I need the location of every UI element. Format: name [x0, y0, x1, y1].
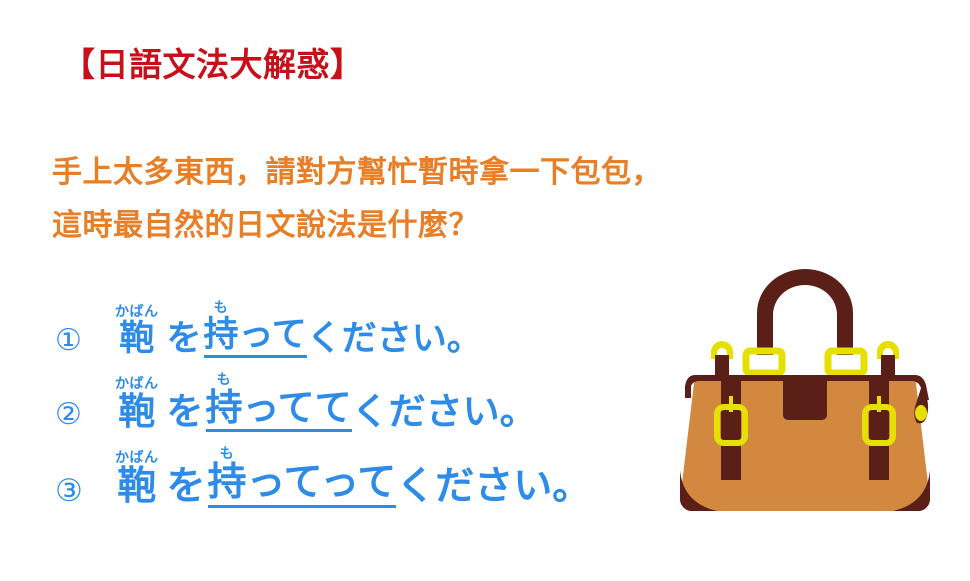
bag-handle-loop-left-icon	[746, 351, 782, 373]
furigana-verb-1: も	[214, 300, 229, 314]
option-item-3[interactable]: ③ かばん 鞄 を も 持 ってって ください。	[55, 446, 655, 508]
question-line-2: 這時最自然的日文說法是什麼？	[52, 199, 712, 252]
particle-wo-1: を	[167, 321, 202, 358]
option-number-2: ②	[55, 400, 115, 432]
bag-buckle-prong-left-icon	[729, 396, 733, 412]
bag-strap-right	[869, 375, 889, 480]
kanji-bag-2: 鞄	[118, 393, 155, 432]
option-item-2[interactable]: ② かばん 鞄 を も 持 ってて ください。	[55, 372, 655, 432]
slide-canvas: 【日語文法大解惑】 手上太多東西，請對方幫忙暫時拿一下包包， 這時最自然的日文說…	[0, 0, 970, 581]
verb-tail-3: ってって	[247, 463, 397, 508]
option-item-1[interactable]: ① かばん 鞄 を も 持 って ください。	[55, 300, 655, 358]
ruby-kanji-2: かばん 鞄	[115, 376, 159, 432]
ruby-verb-2: も 持	[206, 372, 243, 432]
particle-wo-2: を	[167, 393, 204, 432]
bag-handle-icon	[757, 269, 853, 355]
verb-kanji-1: 持	[204, 317, 239, 354]
question-line-1: 手上太多東西，請對方幫忙暫時拿一下包包，	[52, 146, 712, 199]
option-suffix-1: ください。	[307, 321, 482, 358]
question-block: 手上太多東西，請對方幫忙暫時拿一下包包， 這時最自然的日文說法是什麼？	[52, 146, 712, 253]
ruby-verb-3: も 持	[208, 446, 247, 508]
option-suffix-3: ください。	[396, 467, 591, 508]
kanji-bag-3: 鞄	[117, 467, 156, 508]
option-number-1: ①	[55, 326, 115, 358]
kanji-bag-1: 鞄	[119, 321, 154, 358]
ruby-kanji-3: かばん 鞄	[115, 450, 159, 508]
furigana-kanji-1: かばん	[115, 304, 159, 318]
option-text-3: かばん 鞄 を も 持 ってって ください。	[115, 446, 591, 508]
bag-zipper-charm-icon	[915, 405, 927, 421]
bag-ring-strap-right	[881, 355, 895, 377]
verb-tail-1: って	[239, 317, 307, 358]
verb-kanji-3: 持	[208, 463, 247, 504]
particle-wo-3: を	[167, 467, 206, 508]
page-title: 【日語文法大解惑】	[62, 47, 364, 83]
furigana-verb-2: も	[217, 372, 232, 386]
bag-handle-loop-right-icon	[828, 351, 864, 373]
verb-kanji-2: 持	[206, 389, 243, 428]
handbag-svg	[655, 255, 955, 535]
handbag-illustration	[655, 255, 955, 535]
verb-tail-2: ってて	[243, 389, 352, 432]
bag-center-tab	[783, 375, 827, 420]
option-text-1: かばん 鞄 を も 持 って ください。	[115, 300, 482, 358]
furigana-kanji-3: かばん	[115, 450, 159, 464]
option-text-2: かばん 鞄 を も 持 ってて ください。	[115, 372, 537, 432]
furigana-verb-3: も	[220, 446, 235, 460]
ruby-kanji-1: かばん 鞄	[115, 304, 159, 358]
bag-strap-left	[721, 375, 741, 480]
bag-ring-strap-left	[715, 355, 729, 377]
option-suffix-2: ください。	[352, 393, 537, 432]
options-list: ① かばん 鞄 を も 持 って ください。 ② かばん	[55, 300, 655, 520]
bag-buckle-prong-right-icon	[877, 396, 881, 412]
option-number-3: ③	[55, 475, 115, 508]
furigana-kanji-2: かばん	[115, 376, 159, 390]
ruby-verb-1: も 持	[204, 300, 239, 358]
